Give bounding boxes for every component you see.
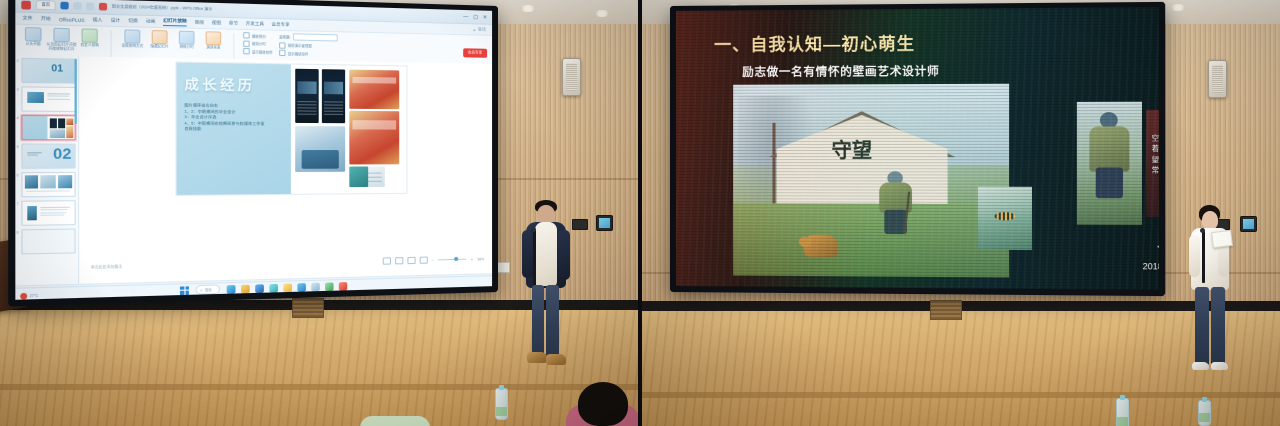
wall-speaker <box>562 58 581 96</box>
ribbon-field-group[interactable]: 监视器: 使用演示者视图 显示播放控件 <box>279 33 337 57</box>
current-slide[interactable]: 成长经历 图片顺序由左向右 1、2：中职期间的毕业设计 3：毕业设计评选 4、5… <box>177 63 407 195</box>
weather-widget[interactable]: 27°C <box>20 293 38 300</box>
weather-icon <box>20 293 27 300</box>
water-bottle <box>1116 398 1129 426</box>
taskbar-search-input[interactable]: ⌕ 搜索 <box>196 284 220 294</box>
search-label: 查找 <box>478 26 486 32</box>
presenter-hoodie <box>535 222 557 286</box>
caption-body: 2018年在三保村首次设计并创作的 第一幅乡村壁画作品“守望” <box>1117 260 1159 288</box>
view-bar[interactable]: − ＋ 98% <box>383 255 485 264</box>
touch-panel[interactable] <box>1240 216 1257 232</box>
display-screen[interactable]: 首页 职业生涯规划（2024年度答辩）.pptx - WPS Office 演示… <box>15 0 492 300</box>
bee-mural-photo-image <box>978 187 1032 250</box>
male-presenter <box>516 200 576 380</box>
menu-developer[interactable]: 开发工具 <box>246 21 264 28</box>
settings-icon[interactable] <box>311 282 320 291</box>
menu-slideshow[interactable]: 幻灯片放映 <box>163 17 187 26</box>
slide-thumbnail[interactable]: 6 <box>21 172 75 198</box>
award-ceremony-photo-image <box>349 70 399 110</box>
slide-text-column: 成长经历 图片顺序由左向右 1、2：中职期间的毕业设计 3：毕业设计评选 4、5… <box>177 63 291 195</box>
zoom-slider[interactable] <box>438 259 466 261</box>
wps-icon[interactable] <box>338 282 346 290</box>
window-controls[interactable]: — ▢ ✕ <box>463 14 487 21</box>
presenter-jeans <box>546 285 559 357</box>
phone-screenshot-2-image <box>322 69 345 123</box>
notes-placeholder[interactable]: 单击此处添加备注 <box>91 263 122 269</box>
certificates-photo-image <box>349 111 399 165</box>
menu-review[interactable]: 审阅 <box>195 19 204 26</box>
ribbon-group-label: 开始放映幻灯片 <box>48 48 74 52</box>
checkbox-icon <box>243 32 250 38</box>
creation-intent-panel: 创作初衷 空巢老人和留守儿童在村口守着盼望着亲人归家的画面，希望看到这副作品的人… <box>1146 110 1159 218</box>
save-icon[interactable] <box>61 2 69 10</box>
slide-thumbnail[interactable]: 3 <box>21 86 75 112</box>
menu-member[interactable]: 会员专享 <box>272 21 290 28</box>
water-bottle <box>1198 400 1211 426</box>
slide-thumbnail-selected[interactable]: 4 <box>21 115 75 140</box>
slide-title: 一、自我认知—初心萌生 <box>714 29 915 55</box>
hero-calligraphy: 守望 <box>831 142 872 161</box>
zoom-out-icon[interactable]: − <box>432 258 434 262</box>
wps-office-window[interactable]: 首页 职业生涯规划（2024年度答辩）.pptx - WPS Office 演示… <box>15 0 492 300</box>
presentation-display-left[interactable]: 首页 职业生涯规划（2024年度答辩）.pptx - WPS Office 演示… <box>8 0 498 307</box>
ceiling-downlight <box>1170 4 1186 11</box>
play-from-start-icon <box>25 27 42 42</box>
wps-logo-icon <box>21 0 31 9</box>
zoom-knob[interactable] <box>454 257 458 261</box>
ribbon-button-rehearse[interactable]: 排练计时 <box>175 31 197 50</box>
slide-sorter-icon[interactable] <box>395 257 403 264</box>
slide-thumbnail[interactable]: 8 <box>21 228 75 254</box>
presenter-shoe <box>546 354 566 365</box>
menu-insert[interactable]: 插入 <box>93 17 103 24</box>
caption-line: 第一幅乡村壁画作品“守望” <box>1117 273 1159 288</box>
hero-dog-figure <box>804 235 839 257</box>
field-monitor[interactable]: 监视器: <box>279 33 337 42</box>
presenter-shoe <box>527 352 547 363</box>
microphone-head-icon <box>1200 228 1205 233</box>
reading-view-icon[interactable] <box>407 257 415 264</box>
menu-design[interactable]: 设计 <box>110 17 120 24</box>
document-name: 职业生涯规划（2024年度答辩）.pptx - WPS Office 演示 <box>112 4 212 12</box>
presenter-jeans <box>1211 287 1225 365</box>
studio-room-photo-image <box>295 126 345 172</box>
checkbox-presenter-view[interactable]: 使用演示者视图 <box>279 42 337 49</box>
search-icon: ⌕ <box>473 27 475 32</box>
hero-field <box>733 203 1009 277</box>
zoom-level: 98% <box>477 257 484 261</box>
maximize-icon[interactable]: ▢ <box>473 14 478 20</box>
slide-photo-collage <box>291 65 406 194</box>
touch-panel[interactable] <box>596 215 613 231</box>
teal-photo-image <box>349 166 368 187</box>
presenter-script <box>1211 230 1233 248</box>
presenter-right-arm <box>558 230 570 280</box>
presenter-left-arm <box>1189 235 1200 277</box>
menu-officeplus[interactable]: OfficePLUS <box>59 16 85 22</box>
zoom-in-icon[interactable]: ＋ <box>470 257 473 262</box>
folder-icon[interactable] <box>283 283 292 292</box>
presenter-shoe <box>1211 362 1228 370</box>
presenter-jeans <box>532 285 544 357</box>
ribbon-button-setup-show[interactable]: 设置放映方式 <box>121 29 144 48</box>
edge-icon[interactable] <box>226 285 235 294</box>
mail-icon[interactable] <box>269 283 278 292</box>
store-icon[interactable] <box>255 284 264 293</box>
ribbon-checkbox-group[interactable]: 播放旁白 使用计时 显示媒体控件 <box>243 32 273 55</box>
presenter-jeans <box>1195 287 1209 365</box>
panel-divider <box>638 0 642 426</box>
member-cta-button[interactable]: 会员专享 <box>463 48 487 58</box>
redo-icon[interactable] <box>86 2 94 10</box>
microphone <box>533 230 536 288</box>
female-presenter <box>1182 205 1238 385</box>
two-panel-composite: 首页 职业生涯规划（2024年度答辩）.pptx - WPS Office 演示… <box>0 0 1280 426</box>
slide-title: 成长经历 <box>184 73 283 94</box>
normal-view-icon[interactable] <box>383 257 391 264</box>
ribbon-button-record[interactable]: 演讲实录 <box>202 31 224 50</box>
stage-edge <box>0 384 640 390</box>
menu-animation[interactable]: 动画 <box>146 18 156 25</box>
search-box[interactable]: ⌕ 查找 <box>473 26 486 32</box>
explorer-icon[interactable] <box>241 284 250 293</box>
hero-elder-figure <box>876 171 923 234</box>
menu-transition[interactable]: 切换 <box>128 18 138 25</box>
presenter-shoe <box>1192 362 1209 370</box>
hide-slide-icon <box>152 30 168 44</box>
ribbon-button-custom-show[interactable]: 自定义放映 <box>78 28 101 47</box>
audience-head <box>578 382 628 426</box>
microphone <box>1202 231 1205 283</box>
checkbox-icon <box>279 50 285 56</box>
slide-bullets: 图片顺序由左向右 1、2：中职期间的毕业设计 3：毕业设计评选 4、5：中职期间… <box>184 103 283 133</box>
custom-show-icon <box>82 28 98 42</box>
menu-start[interactable]: 开始 <box>41 15 51 22</box>
ceiling-downlight <box>520 5 536 12</box>
checkbox-narration[interactable]: 播放旁白 <box>243 32 273 39</box>
ceiling-downlight <box>594 10 610 17</box>
floor-vent <box>292 298 324 318</box>
microphone-head-icon <box>531 227 536 232</box>
menu-section[interactable]: 章节 <box>229 20 238 27</box>
ribbon-group-setup: 设置放映方式 隐藏幻灯片 排练计时 <box>121 29 225 50</box>
play-from-current-icon <box>53 28 69 43</box>
mural-wall-photo-image: 守望 <box>733 84 1009 278</box>
panel-right: 一、自我认知—初心萌生 励志做一名有情怀的壁画艺术设计师 守望 <box>640 0 1280 426</box>
panel-left: 首页 职业生涯规划（2024年度答辩）.pptx - WPS Office 演示… <box>0 0 640 426</box>
display-screen: 一、自我认知—初心萌生 励志做一名有情怀的壁画艺术设计师 守望 <box>676 7 1159 290</box>
slide-thumbnail[interactable]: 2 01 <box>21 58 75 84</box>
ribbon-separator <box>111 30 112 60</box>
water-bottle <box>495 388 508 420</box>
ribbon-button-from-start[interactable]: 从头开始 <box>21 27 45 47</box>
phone-screenshot-1-image <box>295 69 318 123</box>
chrome-icon[interactable] <box>297 283 306 292</box>
panel-heading: 创作初衷 <box>1151 114 1158 130</box>
slideshow-icon[interactable] <box>420 257 428 264</box>
checkbox-media-controls[interactable]: 显示媒体控件 <box>243 48 273 55</box>
floor-vent <box>930 300 962 320</box>
slide-subtitle: 励志做一名有情怀的壁画艺术设计师 <box>742 63 939 80</box>
thumbnail-scrollbar[interactable] <box>75 59 77 124</box>
tab-home[interactable]: 首页 <box>36 0 56 10</box>
slide-thumbnail-panel[interactable]: 2 01 3 <box>15 55 79 286</box>
slide-bullet: 自我技能 <box>184 127 283 133</box>
slide-stage[interactable]: 成长经历 图片顺序由左向右 1、2：中职期间的毕业设计 3：毕业设计评选 4、5… <box>79 57 492 285</box>
editor-body[interactable]: 2 01 3 <box>15 55 492 286</box>
presentation-display-right[interactable]: 一、自我认知—初心萌生 励志做一名有情怀的壁画艺术设计师 守望 <box>670 2 1165 296</box>
checkbox-icon <box>243 40 250 46</box>
led-slide: 一、自我认知—初心萌生 励志做一名有情怀的壁画艺术设计师 守望 <box>676 7 1159 290</box>
menu-view[interactable]: 视图 <box>212 20 221 27</box>
ribbon-button-from-current[interactable]: 从当前幻灯片开始 <box>50 28 74 47</box>
search-icon: ⌕ <box>201 288 203 292</box>
undo-icon[interactable] <box>74 2 82 10</box>
close-icon[interactable]: ✕ <box>483 14 487 20</box>
caption-title: 首次乡村设计+创作 <box>1127 241 1159 260</box>
menu-file[interactable]: 文件 <box>23 15 33 22</box>
checkbox-timing[interactable]: 使用计时 <box>243 40 273 47</box>
wechat-icon[interactable] <box>325 282 333 291</box>
ribbon-separator <box>233 33 234 63</box>
wall-speaker <box>1208 60 1227 98</box>
minimize-icon[interactable]: — <box>463 14 468 20</box>
monitor-select[interactable] <box>293 33 338 41</box>
panel-body: 空巢老人和留守儿童在村口守着盼望着亲人归家的画面，希望看到这副作品的人可以记得常… <box>1151 133 1158 176</box>
ribbon-button-hide-slide[interactable]: 隐藏幻灯片 <box>148 30 171 49</box>
record-icon <box>206 31 222 45</box>
stage-edge <box>640 392 1280 398</box>
slide-thumbnail[interactable]: 7 <box>21 200 75 226</box>
print-icon[interactable] <box>99 3 107 11</box>
setup-show-icon <box>124 29 140 43</box>
ribbon-group-slideshow: 从头开始 从当前幻灯片开始 自定义放映 <box>21 27 101 52</box>
rehearse-timing-icon <box>179 31 195 45</box>
checkbox-playback-controls[interactable]: 显示播放控件 <box>279 50 337 57</box>
slide-thumbnail[interactable]: 5 02 <box>21 144 75 169</box>
checkbox-icon <box>243 48 250 54</box>
start-button-icon[interactable] <box>180 286 189 295</box>
elder-portrait-mural-photo-image <box>1077 102 1142 225</box>
checkbox-icon <box>279 42 285 48</box>
audience-shoulder <box>360 416 430 426</box>
